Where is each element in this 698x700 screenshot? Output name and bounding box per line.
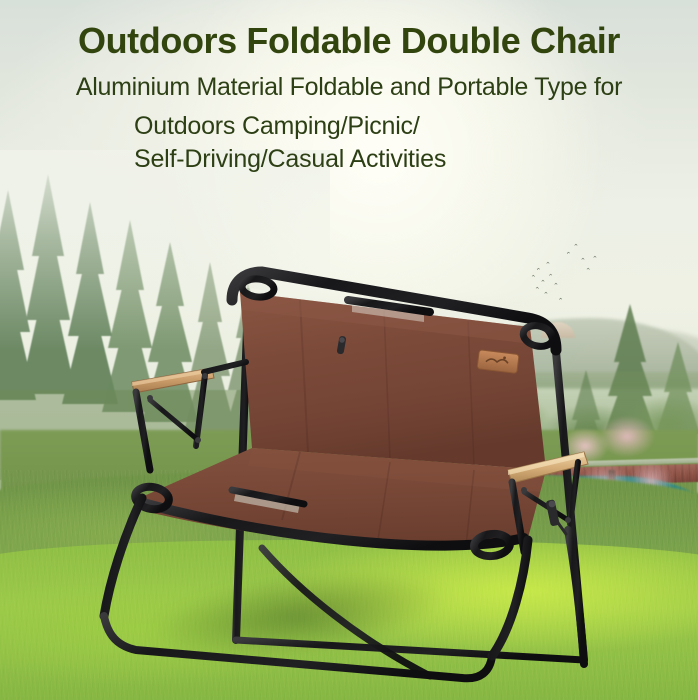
left-armrest-rivet bbox=[195, 437, 201, 443]
right-armrest-rivet bbox=[565, 517, 571, 523]
subtitle-line-1: Aluminium Material Foldable and Portable… bbox=[0, 60, 698, 102]
subtitle-line-3: Self-Driving/Casual Activities bbox=[0, 143, 698, 176]
banner-text-block: Outdoors Foldable Double Chair Aluminium… bbox=[0, 0, 698, 176]
product-banner: ⌃ ⌃ ⌃ ⌃ ⌃ ⌃ ⌃ ⌃ ⌃ ⌃ ⌃ ⌃ ⌃ ⌃ bbox=[0, 0, 698, 700]
subtitle-line-2: Outdoors Camping/Picnic/ bbox=[0, 101, 698, 143]
left-armrest-rivet bbox=[147, 395, 153, 401]
left-armrest-rivet bbox=[202, 373, 208, 379]
page-title: Outdoors Foldable Double Chair bbox=[0, 0, 698, 60]
right-armrest-rivet bbox=[521, 487, 527, 493]
left-armrest-assembly bbox=[132, 362, 246, 470]
